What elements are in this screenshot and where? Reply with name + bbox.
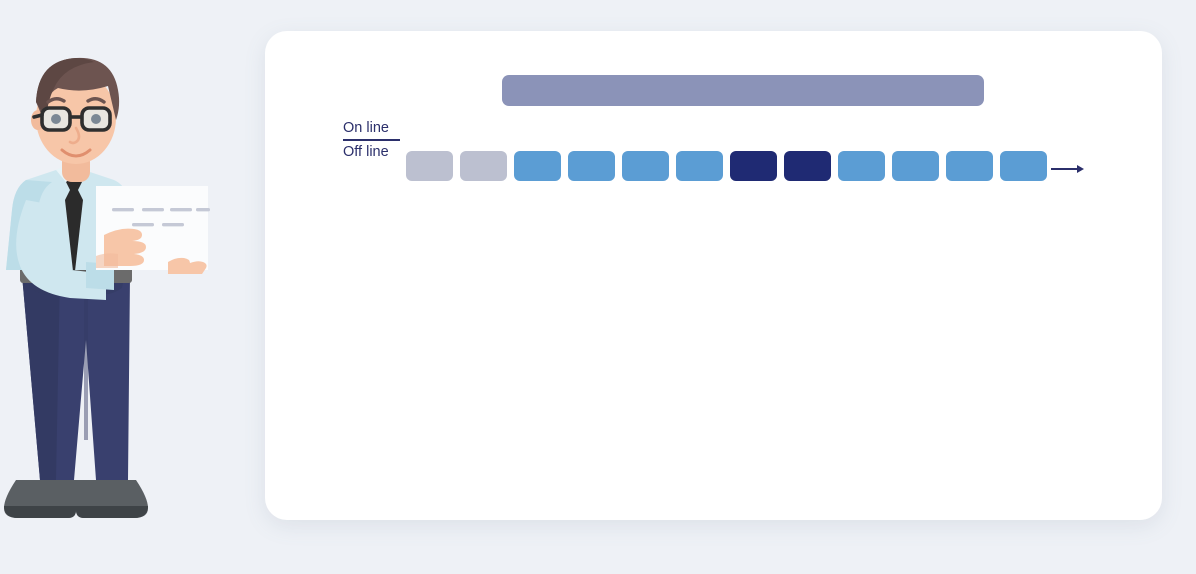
timeline-block-6[interactable]	[676, 151, 723, 181]
timeline-block-8[interactable]	[784, 151, 831, 181]
held-document	[96, 186, 210, 274]
timeline-axis-labels: On line Off line	[343, 118, 400, 162]
head	[31, 58, 119, 164]
timeline-arrow	[1051, 164, 1085, 174]
timeline-block-3[interactable]	[514, 151, 561, 181]
timeline-block-1[interactable]	[406, 151, 453, 181]
timeline-block-5[interactable]	[622, 151, 669, 181]
axis-divider	[343, 139, 400, 141]
timeline: On line Off line	[265, 31, 1162, 520]
timeline-block-11[interactable]	[946, 151, 993, 181]
trousers	[22, 275, 130, 480]
timeline-block-2[interactable]	[460, 151, 507, 181]
timeline-block-7[interactable]	[730, 151, 777, 181]
timeline-block-9[interactable]	[838, 151, 885, 181]
shoes	[4, 480, 148, 518]
axis-label-offline: Off line	[343, 142, 400, 162]
timeline-block-4[interactable]	[568, 151, 615, 181]
timeline-blocks	[406, 151, 1047, 181]
axis-label-online: On line	[343, 118, 400, 138]
presenter-illustration	[0, 40, 230, 520]
content-card: On line Off line	[265, 31, 1162, 520]
timeline-block-12[interactable]	[1000, 151, 1047, 181]
timeline-block-10[interactable]	[892, 151, 939, 181]
